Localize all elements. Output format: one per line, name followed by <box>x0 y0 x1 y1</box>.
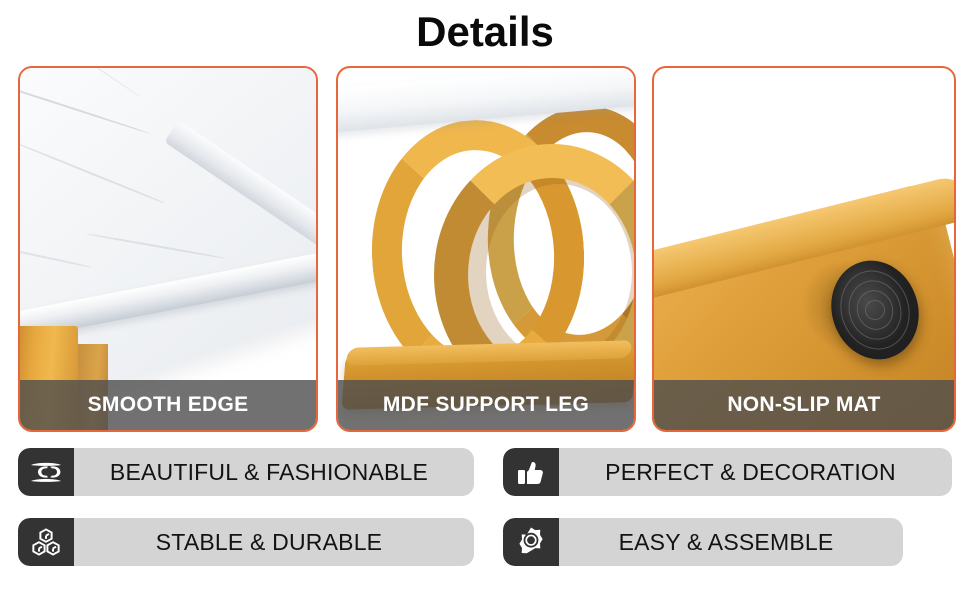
table-emblem-icon <box>18 448 74 496</box>
marble-vein <box>20 142 164 203</box>
page-title: Details <box>0 6 970 58</box>
product-details-page: Details SMOOTH EDGE <box>0 0 970 600</box>
feature-badge-stable-durable[interactable]: STABLE & DURABLE <box>18 518 474 566</box>
feature-label: BEAUTIFUL & FASHIONABLE <box>74 459 474 486</box>
feature-badges: BEAUTIFUL & FASHIONABLE PERFECT & DECORA… <box>18 448 952 582</box>
panel-caption: NON-SLIP MAT <box>654 380 954 430</box>
feature-badge-beautiful-fashionable[interactable]: BEAUTIFUL & FASHIONABLE <box>18 448 474 496</box>
panel-caption: SMOOTH EDGE <box>20 380 316 430</box>
marble-vein <box>20 68 151 135</box>
thumbs-up-icon <box>503 448 559 496</box>
photo-smooth-edge <box>20 68 316 430</box>
gear-icon <box>503 518 559 566</box>
feature-label: EASY & ASSEMBLE <box>559 529 903 556</box>
panel-caption: MDF SUPPORT LEG <box>338 380 634 430</box>
marble-vein <box>20 241 91 267</box>
marble-vein <box>87 233 225 259</box>
feature-badge-easy-assemble[interactable]: EASY & ASSEMBLE <box>503 518 903 566</box>
photo-non-slip-mat <box>654 68 954 430</box>
feature-label: STABLE & DURABLE <box>74 529 474 556</box>
marble-vein <box>67 68 142 99</box>
detail-panels: SMOOTH EDGE MDF SUPPORT LEG <box>18 66 952 428</box>
feature-label: PERFECT & DECORATION <box>559 459 952 486</box>
detail-panel-mdf-support-leg[interactable]: MDF SUPPORT LEG <box>336 66 636 432</box>
detail-panel-non-slip-mat[interactable]: NON-SLIP MAT <box>652 66 956 432</box>
detail-panel-smooth-edge[interactable]: SMOOTH EDGE <box>18 66 318 432</box>
feature-badge-perfect-decoration[interactable]: PERFECT & DECORATION <box>503 448 952 496</box>
photo-mdf-support-leg <box>338 68 634 430</box>
hexagon-blocks-icon <box>18 518 74 566</box>
